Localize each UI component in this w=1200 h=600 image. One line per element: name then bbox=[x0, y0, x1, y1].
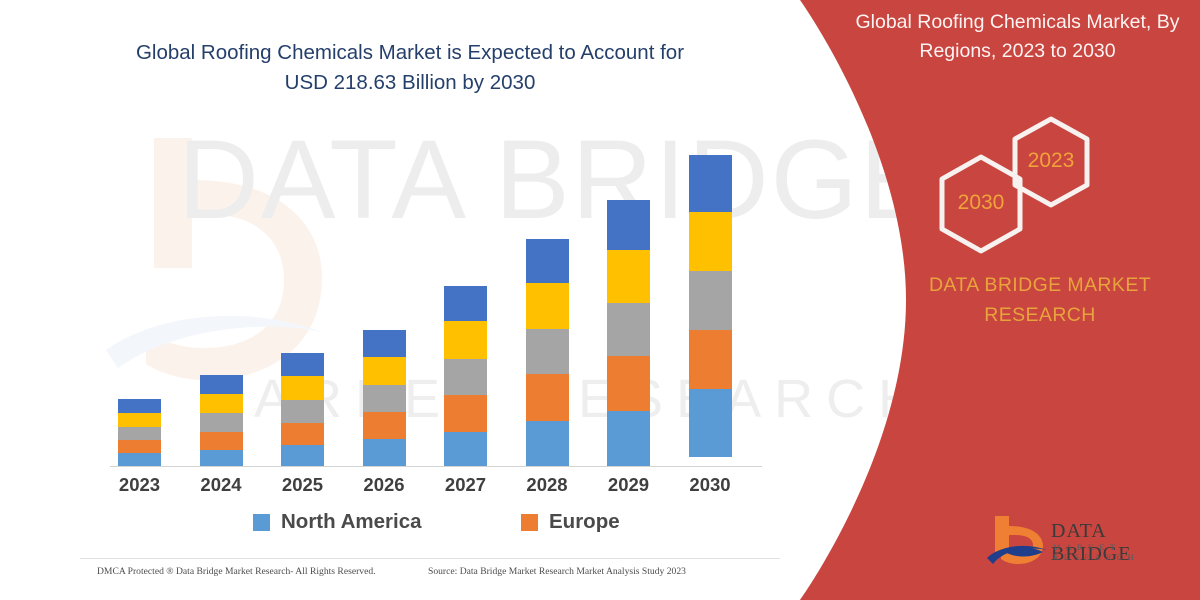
panel-title-line2: Regions, 2023 to 2030 bbox=[845, 37, 1190, 66]
hex-badge-2030: 2030 bbox=[934, 152, 1028, 256]
panel-title: Global Roofing Chemicals Market, By Regi… bbox=[845, 8, 1190, 66]
logo-subtitle: MARKET RESEARCH bbox=[1053, 542, 1185, 562]
panel-brand-text: DATA BRIDGE MARKET RESEARCH bbox=[890, 270, 1190, 330]
infographic-canvas: DATA BRIDGE MARKET RESEARCH Global Roofi… bbox=[0, 0, 1200, 600]
panel-title-line1: Global Roofing Chemicals Market, By bbox=[845, 8, 1190, 37]
panel-brand-line2: RESEARCH bbox=[890, 300, 1190, 330]
hex-badge-2030-label: 2030 bbox=[934, 191, 1028, 215]
panel-brand-line1: DATA BRIDGE MARKET bbox=[890, 270, 1190, 300]
data-bridge-logo: DATA BRIDGE MARKET RESEARCH bbox=[985, 512, 1185, 570]
data-bridge-mark-icon bbox=[985, 512, 1051, 568]
